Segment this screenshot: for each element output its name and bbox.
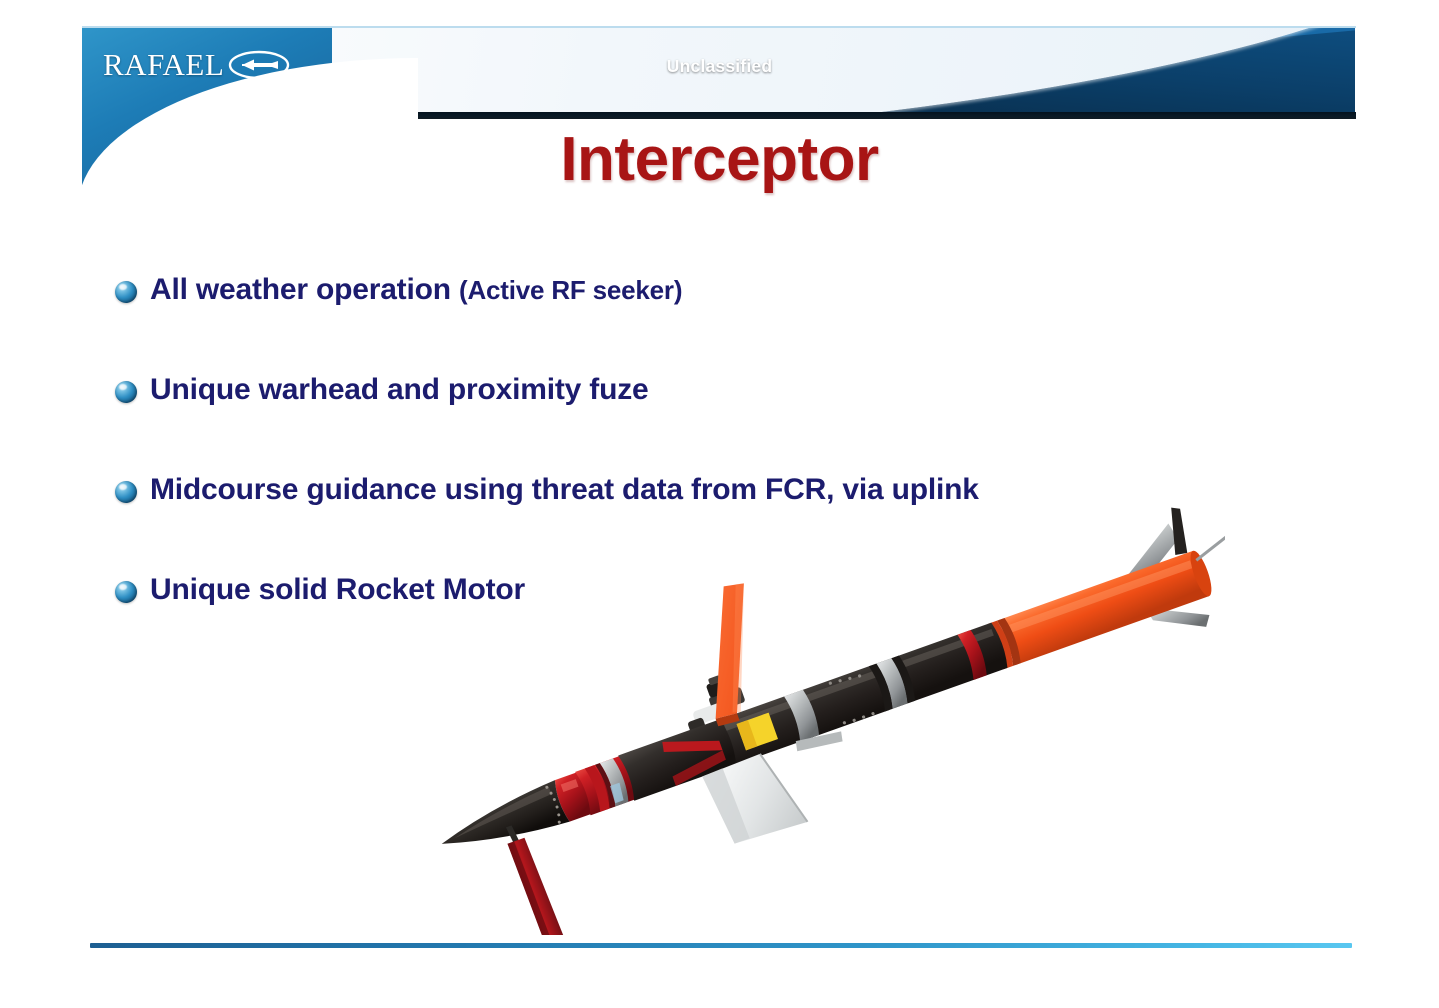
footer-divider-rule bbox=[90, 943, 1352, 948]
bullet-text-main: All weather operation bbox=[150, 273, 459, 306]
bullet-text-main: Unique warhead and proximity fuze bbox=[150, 373, 648, 406]
blue-sphere-bullet-icon bbox=[115, 281, 137, 303]
blue-sphere-bullet-icon bbox=[115, 581, 137, 603]
bullet-text: All weather operation (Active RF seeker) bbox=[150, 274, 682, 306]
canard-fin-orange bbox=[675, 580, 784, 721]
blue-sphere-bullet-icon bbox=[115, 381, 137, 403]
interceptor-missile-photo bbox=[395, 495, 1225, 935]
bullet-text: Unique warhead and proximity fuze bbox=[150, 374, 648, 406]
page-title: Interceptor bbox=[0, 124, 1439, 195]
bullet-text-sub: (Active RF seeker) bbox=[459, 275, 682, 305]
list-item: Unique warhead and proximity fuze bbox=[115, 374, 1235, 474]
presentation-slide: RAFAEL Unclassified Interceptor All weat… bbox=[0, 0, 1439, 1008]
classification-banner: Unclassified bbox=[0, 56, 1439, 77]
blue-sphere-bullet-icon bbox=[115, 481, 137, 503]
list-item: All weather operation (Active RF seeker) bbox=[115, 274, 1235, 374]
